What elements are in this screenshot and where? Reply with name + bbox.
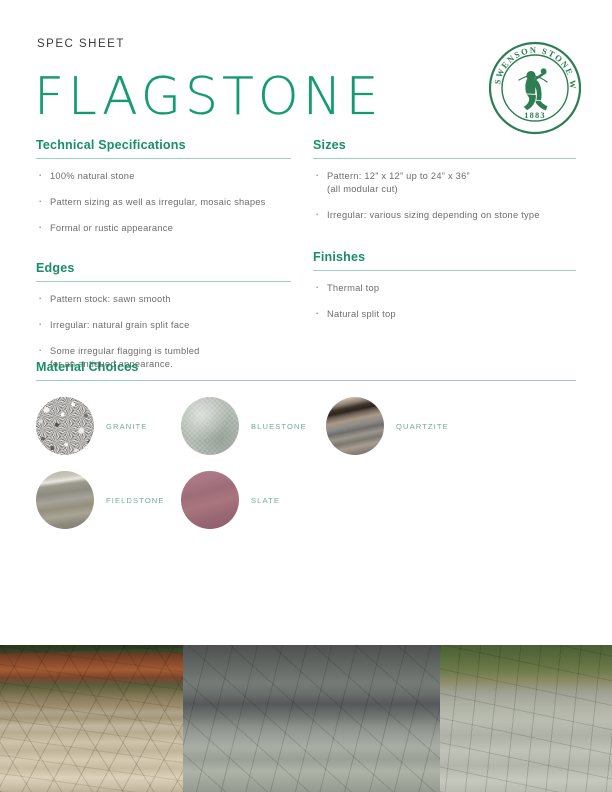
section-heading-finishes: Finishes xyxy=(313,250,576,270)
list-item: Pattern sizing as well as irregular, mos… xyxy=(36,196,291,209)
list-item: Irregular: natural grain split face xyxy=(36,319,291,332)
quartzite-swatch-label: QUARTZITE xyxy=(396,422,449,431)
swenson-stone-works-logo: SWENSON STONE WORKS 1883 xyxy=(487,40,583,136)
sizes-list: Pattern: 12” x 12” up to 24” x 36” (all … xyxy=(313,170,576,222)
section-divider xyxy=(36,380,576,381)
technical-list: 100% natural stone Pattern sizing as wel… xyxy=(36,170,291,235)
photo-patio-with-iron-table-and-chairs xyxy=(440,645,612,792)
bluestone-swatch-cell[interactable]: BLUESTONE xyxy=(181,397,326,455)
left-column: Technical Specifications 100% natural st… xyxy=(36,138,291,384)
fieldstone-swatch-label: FIELDSTONE xyxy=(106,496,165,505)
list-item: Natural split top xyxy=(313,308,576,321)
section-divider xyxy=(313,158,576,159)
photo-strip xyxy=(0,645,612,792)
slate-swatch-label: SLATE xyxy=(251,496,280,505)
page-header: SPEC SHEET FLAGSTONE SWENSON STONE WORKS… xyxy=(0,0,612,140)
fieldstone-swatch[interactable] xyxy=(36,471,94,529)
section-heading-sizes: Sizes xyxy=(313,138,576,158)
bluestone-swatch-label: BLUESTONE xyxy=(251,422,307,431)
section-heading-edges: Edges xyxy=(36,261,291,281)
section-material-choices: Material Choices GRANITE BLUESTONE QUART… xyxy=(36,360,576,545)
slate-swatch-cell[interactable]: SLATE xyxy=(181,471,326,529)
list-item: Pattern: 12” x 12” up to 24” x 36” (all … xyxy=(313,170,576,196)
list-item: Pattern stock: sawn smooth xyxy=(36,293,291,306)
section-technical-specifications: Technical Specifications 100% natural st… xyxy=(36,138,291,235)
section-divider xyxy=(36,281,291,282)
quartzite-swatch[interactable] xyxy=(326,397,384,455)
list-item: 100% natural stone xyxy=(36,170,291,183)
section-divider xyxy=(36,158,291,159)
swatch-cell-empty xyxy=(326,471,471,529)
finishes-list: Thermal top Natural split top xyxy=(313,282,576,321)
granite-swatch-cell[interactable]: GRANITE xyxy=(36,397,181,455)
list-item: Formal or rustic appearance xyxy=(36,222,291,235)
swatch-row: GRANITE BLUESTONE QUARTZITE xyxy=(36,397,576,455)
spec-sheet-kicker: SPEC SHEET xyxy=(37,38,125,50)
granite-swatch[interactable] xyxy=(36,397,94,455)
swatch-row: FIELDSTONE SLATE xyxy=(36,471,576,529)
page-title: FLAGSTONE xyxy=(34,68,382,126)
section-heading-technical: Technical Specifications xyxy=(36,138,291,158)
list-item: Thermal top xyxy=(313,282,576,295)
list-item: Irregular: various sizing depending on s… xyxy=(313,209,576,222)
photo-flagstone-patio-with-stone-wall xyxy=(0,645,183,792)
granite-swatch-label: GRANITE xyxy=(106,422,147,431)
section-divider xyxy=(313,270,576,271)
right-column: Sizes Pattern: 12” x 12” up to 24” x 36”… xyxy=(313,138,576,334)
quartzite-swatch-cell[interactable]: QUARTZITE xyxy=(326,397,471,455)
section-finishes: Finishes Thermal top Natural split top xyxy=(313,250,576,321)
logo-year: 1883 xyxy=(524,111,546,120)
section-edges: Edges Pattern stock: sawn smooth Irregul… xyxy=(36,261,291,371)
bluestone-swatch[interactable] xyxy=(181,397,239,455)
slate-swatch[interactable] xyxy=(181,471,239,529)
material-swatch-grid: GRANITE BLUESTONE QUARTZITE FIELDSTONE S… xyxy=(36,397,576,529)
section-heading-material-choices: Material Choices xyxy=(36,360,576,380)
fieldstone-swatch-cell[interactable]: FIELDSTONE xyxy=(36,471,181,529)
section-sizes: Sizes Pattern: 12” x 12” up to 24” x 36”… xyxy=(313,138,576,222)
photo-house-entry-with-lounge-chairs xyxy=(183,645,440,792)
